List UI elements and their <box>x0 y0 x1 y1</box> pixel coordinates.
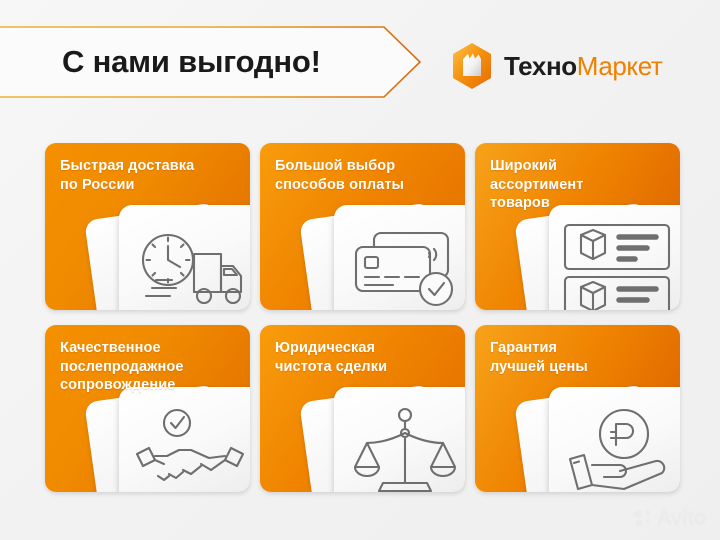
card-title: Гарантия лучшей цены <box>490 339 668 376</box>
card-title: Юридическая чистота сделки <box>275 339 453 376</box>
card-plate <box>334 205 465 310</box>
card-title: Качественное послепродажное сопровождени… <box>60 339 238 395</box>
brand-logo-text: ТехноМаркет <box>504 53 662 79</box>
card-title: Широкий ассортимент товаров <box>490 157 668 213</box>
card-plate <box>119 205 250 310</box>
header: С нами выгодно! <box>0 0 720 122</box>
card-title: Большой выбор способов оплаты <box>275 157 453 194</box>
hand-ruble-coin-icon <box>562 407 678 492</box>
avito-watermark-text: Avito <box>657 507 706 528</box>
page-title: С нами выгодно! <box>62 26 392 98</box>
benefits-grid: Быстрая доставка по России <box>45 143 720 495</box>
benefit-card-best-price[interactable]: Гарантия лучшей цены <box>475 325 680 492</box>
benefit-card-delivery[interactable]: Быстрая доставка по России <box>45 143 250 310</box>
card-plate <box>549 387 680 492</box>
justice-scales-icon <box>349 405 461 492</box>
credit-card-check-icon <box>346 227 464 310</box>
benefit-card-payment[interactable]: Большой выбор способов оплаты <box>260 143 465 310</box>
brand-logo-text-dark: Техно <box>504 51 577 81</box>
card-plate <box>119 387 250 492</box>
avito-dots-icon <box>633 509 653 527</box>
benefit-card-assortment[interactable]: Широкий ассортимент товаров <box>475 143 680 310</box>
avito-watermark: Avito <box>633 507 706 528</box>
brand-logo: ТехноМаркет <box>450 42 662 90</box>
benefit-card-legal[interactable]: Юридическая чистота сделки <box>260 325 465 492</box>
benefit-card-aftersales[interactable]: Качественное послепродажное сопровождени… <box>45 325 250 492</box>
brand-logo-text-orange: Маркет <box>577 51 663 81</box>
product-list-boxes-icon <box>559 221 680 310</box>
handshake-check-icon <box>131 408 249 492</box>
hexagon-logo-icon <box>450 42 494 90</box>
clock-truck-icon <box>128 226 250 310</box>
card-plate <box>549 205 680 310</box>
card-title: Быстрая доставка по России <box>60 157 238 194</box>
card-plate <box>334 387 465 492</box>
